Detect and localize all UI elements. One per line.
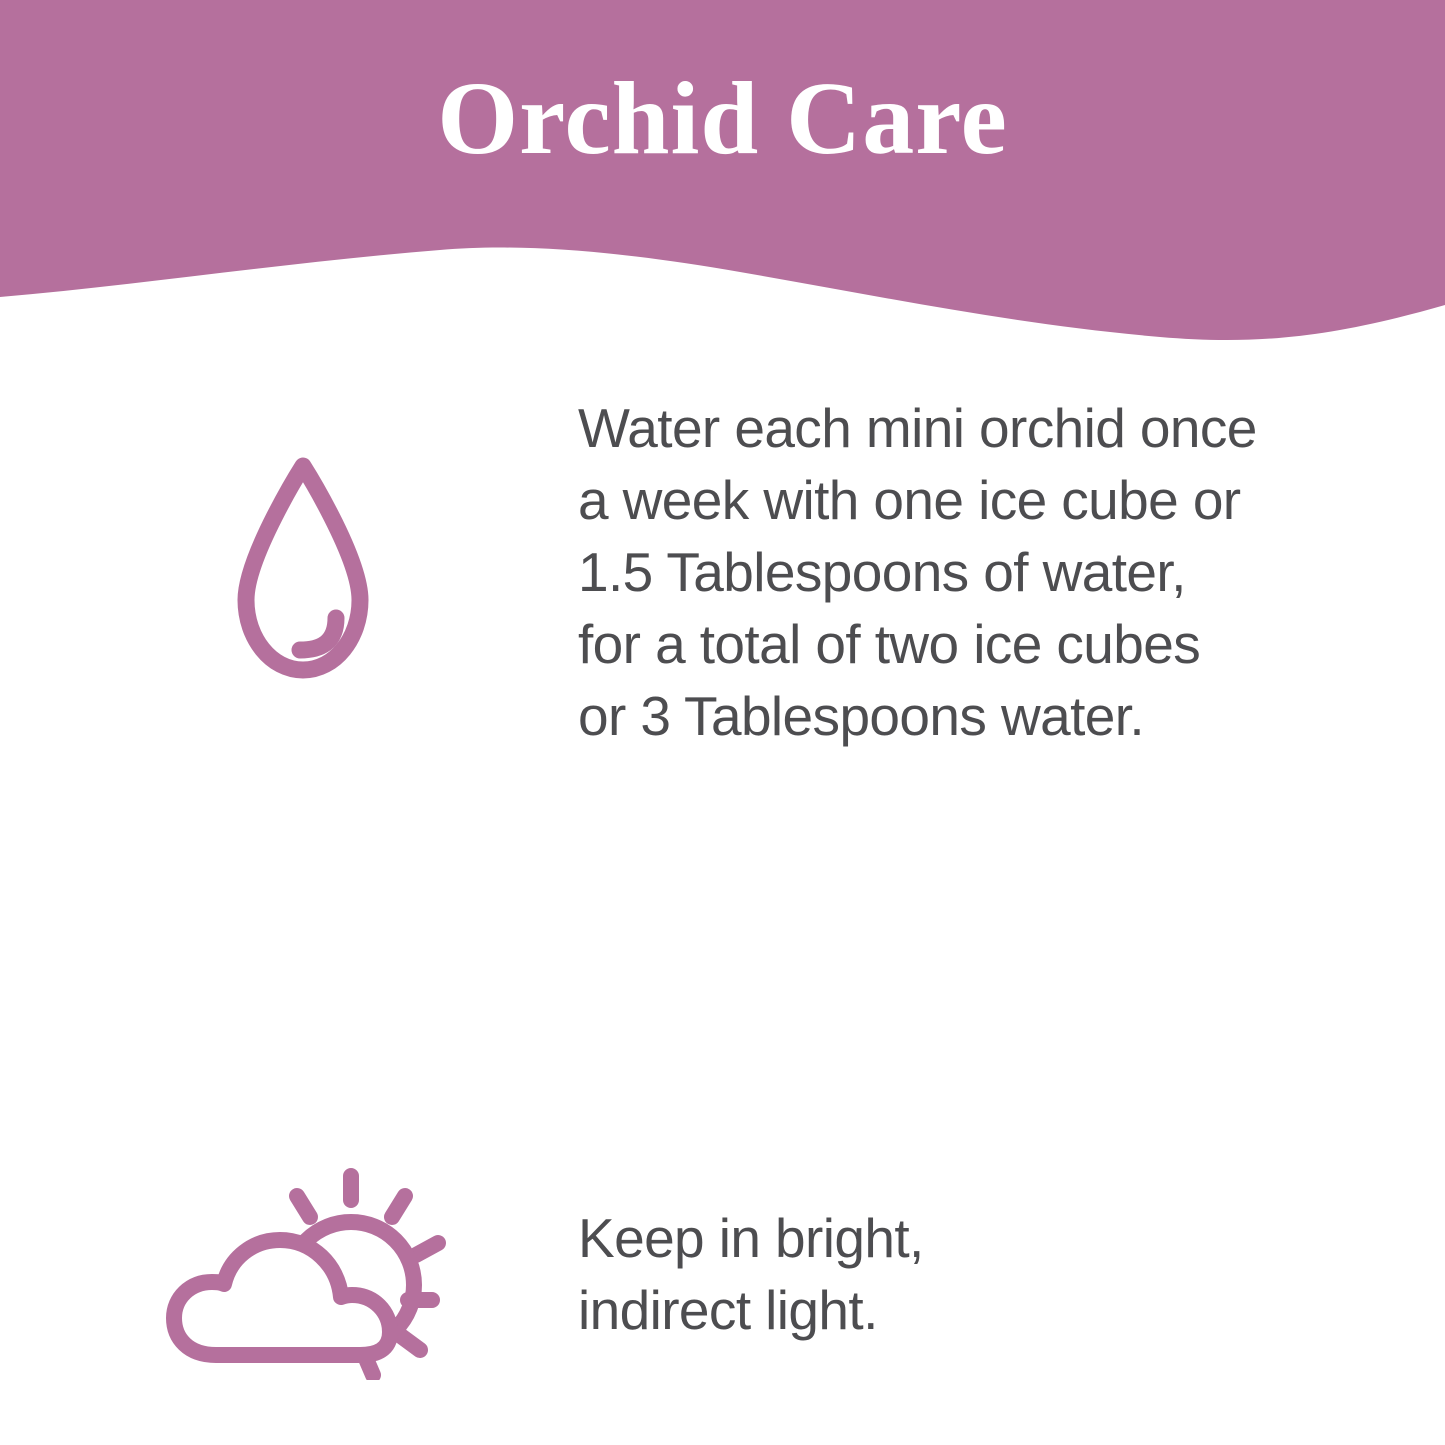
orchid-care-infographic: Orchid Care Water each mini orchid once … (0, 0, 1445, 1445)
care-item-light: Keep in bright, indirect light. (0, 770, 1445, 1090)
care-item-watering: Water each mini orchid once a week with … (0, 380, 1445, 770)
header-wave-shape (0, 0, 1445, 360)
care-item-text-watering: Water each mini orchid once a week with … (578, 392, 1318, 752)
water-drop-icon (228, 448, 378, 688)
care-item-temperature: Between 65°-85°F, never below 55°F. Avoi… (0, 1090, 1445, 1430)
page-title: Orchid Care (0, 64, 1445, 173)
